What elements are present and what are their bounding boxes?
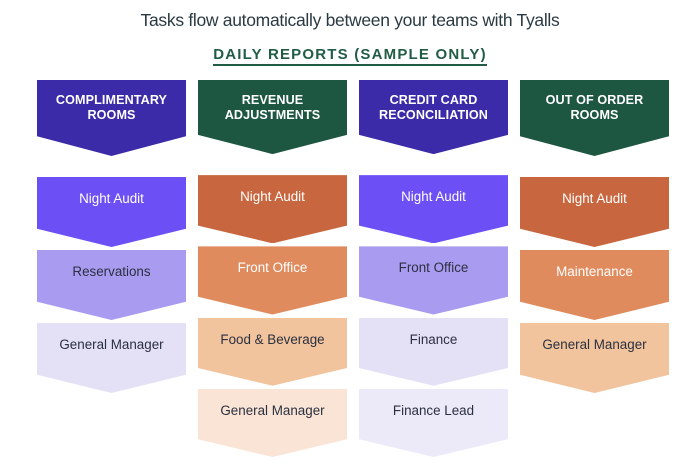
flow-step-night-audit[interactable]: Night Audit xyxy=(359,175,508,243)
flow-step-label: Night Audit xyxy=(520,177,669,207)
flow-step-general-manager[interactable]: General Manager xyxy=(520,323,669,393)
flow-step-night-audit[interactable]: Night Audit xyxy=(198,175,347,243)
flow-step-label: Night Audit xyxy=(37,177,186,207)
flow-step-maintenance[interactable]: Maintenance xyxy=(520,250,669,320)
flow-step-general-manager[interactable]: General Manager xyxy=(198,389,347,457)
column-header-label: REVENUE ADJUSTMENTS xyxy=(198,80,347,124)
flow-step-front-office[interactable]: Front Office xyxy=(198,246,347,314)
flow-step-label: Night Audit xyxy=(198,175,347,205)
subtitle-container: DAILY REPORTS (SAMPLE ONLY) xyxy=(0,46,700,66)
flow-step-night-audit[interactable]: Night Audit xyxy=(520,177,669,247)
flow-step-label: Night Audit xyxy=(359,175,508,205)
flow-step-label: Front Office xyxy=(359,246,508,276)
flow-step-reservations[interactable]: Reservations xyxy=(37,250,186,320)
column-header-complimentary-rooms[interactable]: COMPLIMENTARY ROOMS xyxy=(37,80,186,156)
column-header-label: OUT OF ORDER ROOMS xyxy=(520,80,669,124)
flow-step-label: Reservations xyxy=(37,250,186,280)
diagram-canvas: Tasks flow automatically between your te… xyxy=(0,0,700,467)
column-header-out-of-order-rooms[interactable]: OUT OF ORDER ROOMS xyxy=(520,80,669,156)
flow-step-night-audit[interactable]: Night Audit xyxy=(37,177,186,247)
workflow-column-out-of-order-rooms: OUT OF ORDER ROOMSNight AuditMaintenance… xyxy=(520,80,669,460)
workflow-columns: COMPLIMENTARY ROOMSNight AuditReservatio… xyxy=(37,80,663,460)
flow-step-label: Food & Beverage xyxy=(198,318,347,348)
diagram-subtitle: DAILY REPORTS (SAMPLE ONLY) xyxy=(213,46,487,66)
page-title: Tasks flow automatically between your te… xyxy=(0,10,700,31)
workflow-column-revenue-adjustments: REVENUE ADJUSTMENTSNight AuditFront Offi… xyxy=(198,80,347,460)
flow-step-front-office[interactable]: Front Office xyxy=(359,246,508,314)
flow-step-finance-lead[interactable]: Finance Lead xyxy=(359,389,508,457)
workflow-column-complimentary-rooms: COMPLIMENTARY ROOMSNight AuditReservatio… xyxy=(37,80,186,460)
column-header-label: CREDIT CARD RECONCILIATION xyxy=(359,80,508,124)
workflow-column-credit-card-reconciliation: CREDIT CARD RECONCILIATIONNight AuditFro… xyxy=(359,80,508,460)
flow-step-finance[interactable]: Finance xyxy=(359,318,508,386)
column-header-credit-card-reconciliation[interactable]: CREDIT CARD RECONCILIATION xyxy=(359,80,508,154)
flow-step-label: Maintenance xyxy=(520,250,669,280)
flow-step-label: Finance xyxy=(359,318,508,348)
flow-step-label: General Manager xyxy=(198,389,347,419)
flow-step-label: Front Office xyxy=(198,246,347,276)
flow-step-food-beverage[interactable]: Food & Beverage xyxy=(198,318,347,386)
flow-step-label: General Manager xyxy=(520,323,669,353)
flow-step-label: Finance Lead xyxy=(359,389,508,419)
flow-step-general-manager[interactable]: General Manager xyxy=(37,323,186,393)
column-header-label: COMPLIMENTARY ROOMS xyxy=(37,80,186,124)
flow-step-label: General Manager xyxy=(37,323,186,353)
column-header-revenue-adjustments[interactable]: REVENUE ADJUSTMENTS xyxy=(198,80,347,154)
